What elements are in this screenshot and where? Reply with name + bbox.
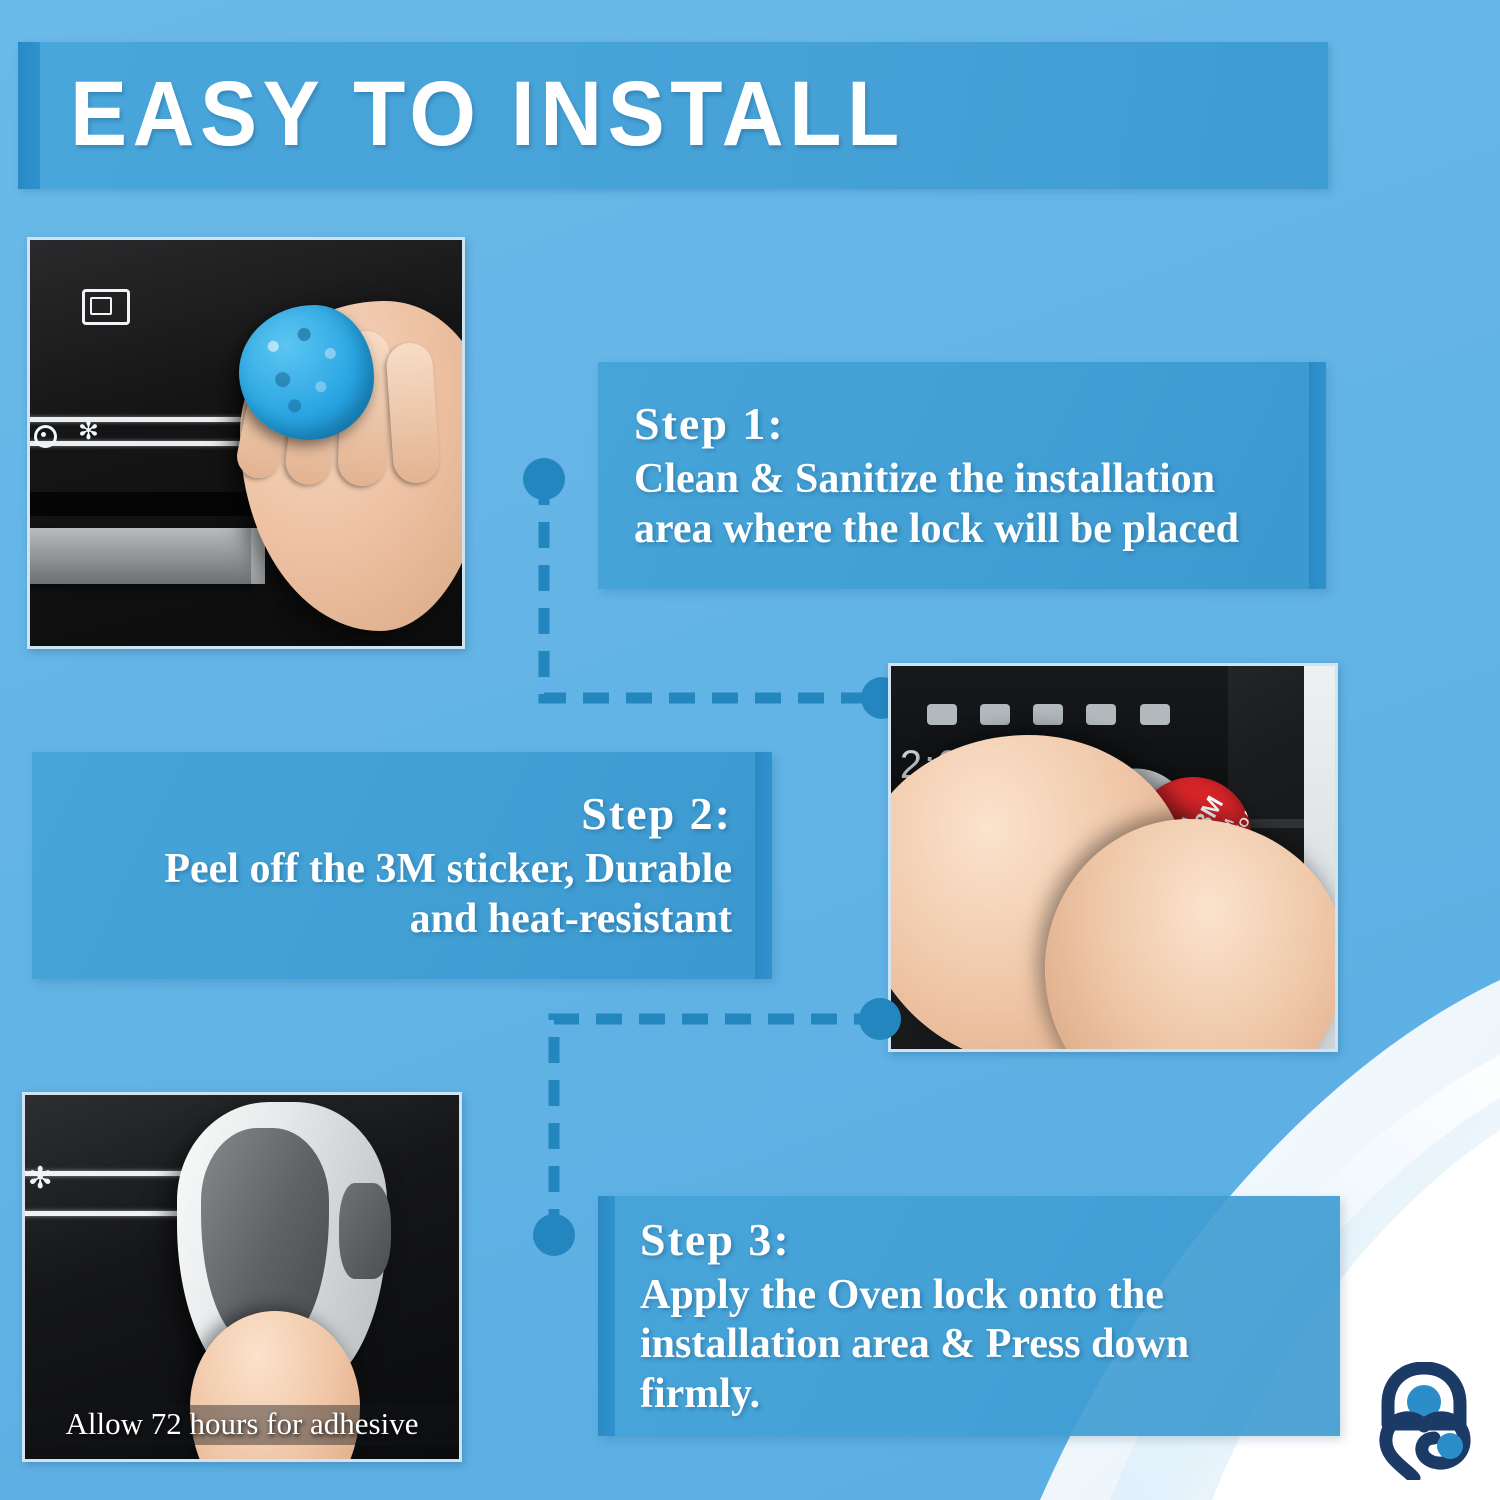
step-1-detail: Clean & Sanitize the installation area w… — [634, 455, 1239, 554]
poster-canvas: EASY TO INSTALL ✻ Step 1: Clean & Sa — [0, 0, 1500, 1500]
step-2-panel: Step 2: Peel off the 3M sticker, Durable… — [32, 752, 772, 979]
step-3-panel: Step 3: Apply the Oven lock onto the ins… — [598, 1196, 1340, 1436]
control-strip-bottom — [22, 1211, 188, 1216]
step-1-panel: Step 1: Clean & Sanitize the installatio… — [598, 362, 1326, 589]
panel-button — [1086, 704, 1116, 725]
page-title-text: EASY TO INSTALL — [70, 68, 905, 160]
photo-step1-cleaning: ✻ — [27, 237, 465, 649]
fan-icon: ✻ — [78, 421, 100, 443]
title-banner: EASY TO INSTALL — [18, 42, 1328, 189]
logo-lower-dot — [1437, 1433, 1463, 1459]
panel-button — [1140, 704, 1170, 725]
panel-button — [980, 704, 1010, 725]
connector-dot-start — [523, 458, 565, 500]
power-dot-icon — [34, 425, 57, 448]
finger — [385, 341, 441, 484]
flower-icon: ✻ — [27, 1166, 53, 1192]
step-1-heading: Step 1: — [634, 397, 785, 451]
panel-button — [927, 704, 957, 725]
blue-sponge — [239, 305, 374, 440]
panel-button — [1033, 704, 1063, 725]
step-3-detail: Apply the Oven lock onto the installatio… — [640, 1271, 1189, 1420]
page-title: EASY TO INSTALL — [70, 68, 968, 160]
lock-side-button — [339, 1183, 391, 1279]
microwave-icon — [82, 289, 130, 325]
step-2-detail: Peel off the 3M sticker, Durable and hea… — [164, 845, 732, 944]
photo-step2-peeling-sticker: 2:00 3M 3M 3M PE FOAM PE FOAM PE FOAM — [888, 663, 1338, 1052]
photo-step3-caption: Allow 72 hours for adhesive — [25, 1405, 459, 1445]
padlock-heart-logo — [1368, 1362, 1480, 1480]
photo-step3-pressing-lock: ✻ Allow 72 hours for adhesive — [22, 1092, 462, 1462]
oven-handle — [27, 528, 253, 584]
title-banner-accent-bar — [18, 42, 40, 189]
step-3-heading: Step 3: — [640, 1213, 791, 1267]
step-2-heading: Step 2: — [581, 787, 732, 841]
connector-dot-end — [533, 1214, 575, 1256]
